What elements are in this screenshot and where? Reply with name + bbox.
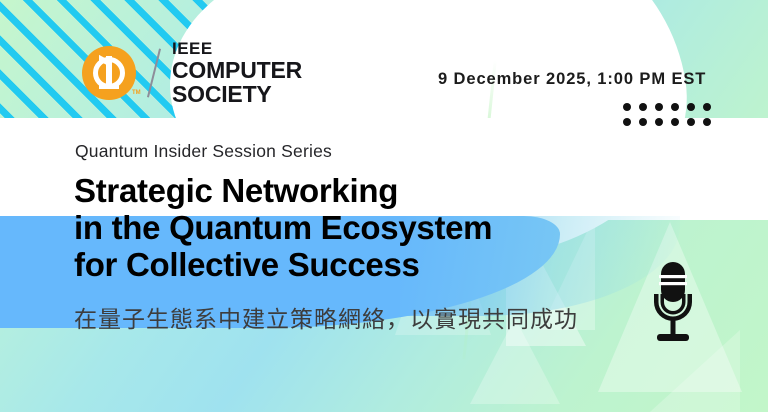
event-banner: TM IEEE COMPUTER SOCIETY 9 December 2025… bbox=[0, 0, 768, 412]
grid-dot bbox=[639, 103, 647, 111]
grid-dot bbox=[703, 118, 711, 126]
grid-dot bbox=[671, 103, 679, 111]
logo-wordmark: IEEE COMPUTER SOCIETY bbox=[172, 40, 302, 106]
subtitle-chinese: 在量子生態系中建立策略網絡，以實現共同成功 bbox=[74, 300, 578, 334]
grid-dot bbox=[655, 118, 663, 126]
dot-grid-decoration bbox=[623, 103, 719, 133]
logo-line-society: SOCIETY bbox=[172, 83, 302, 106]
logo-line-ieee: IEEE bbox=[172, 40, 302, 57]
grid-dot bbox=[703, 103, 711, 111]
headline-line-1: Strategic Networking bbox=[74, 172, 492, 209]
grid-dot bbox=[623, 118, 631, 126]
headline-line-2: in the Quantum Ecosystem bbox=[74, 209, 492, 246]
page-title: Strategic Networking in the Quantum Ecos… bbox=[74, 172, 492, 283]
ieee-computer-society-logo: TM IEEE COMPUTER SOCIETY bbox=[82, 40, 302, 106]
grid-dot bbox=[655, 103, 663, 111]
logo-line-computer: COMPUTER bbox=[172, 59, 302, 82]
grid-dot bbox=[671, 118, 679, 126]
grid-dot bbox=[623, 103, 631, 111]
microphone-icon bbox=[645, 258, 701, 346]
logo-divider bbox=[147, 49, 161, 98]
grid-dot bbox=[687, 103, 695, 111]
event-datetime: 9 December 2025, 1:00 PM EST bbox=[438, 70, 706, 89]
grid-dot bbox=[687, 118, 695, 126]
ieee-cs-logo-icon: TM bbox=[82, 46, 136, 100]
series-eyebrow: Quantum Insider Session Series bbox=[75, 141, 332, 162]
trademark-symbol: TM bbox=[132, 90, 141, 96]
grid-dot bbox=[639, 118, 647, 126]
headline-line-3: for Collective Success bbox=[74, 246, 492, 283]
